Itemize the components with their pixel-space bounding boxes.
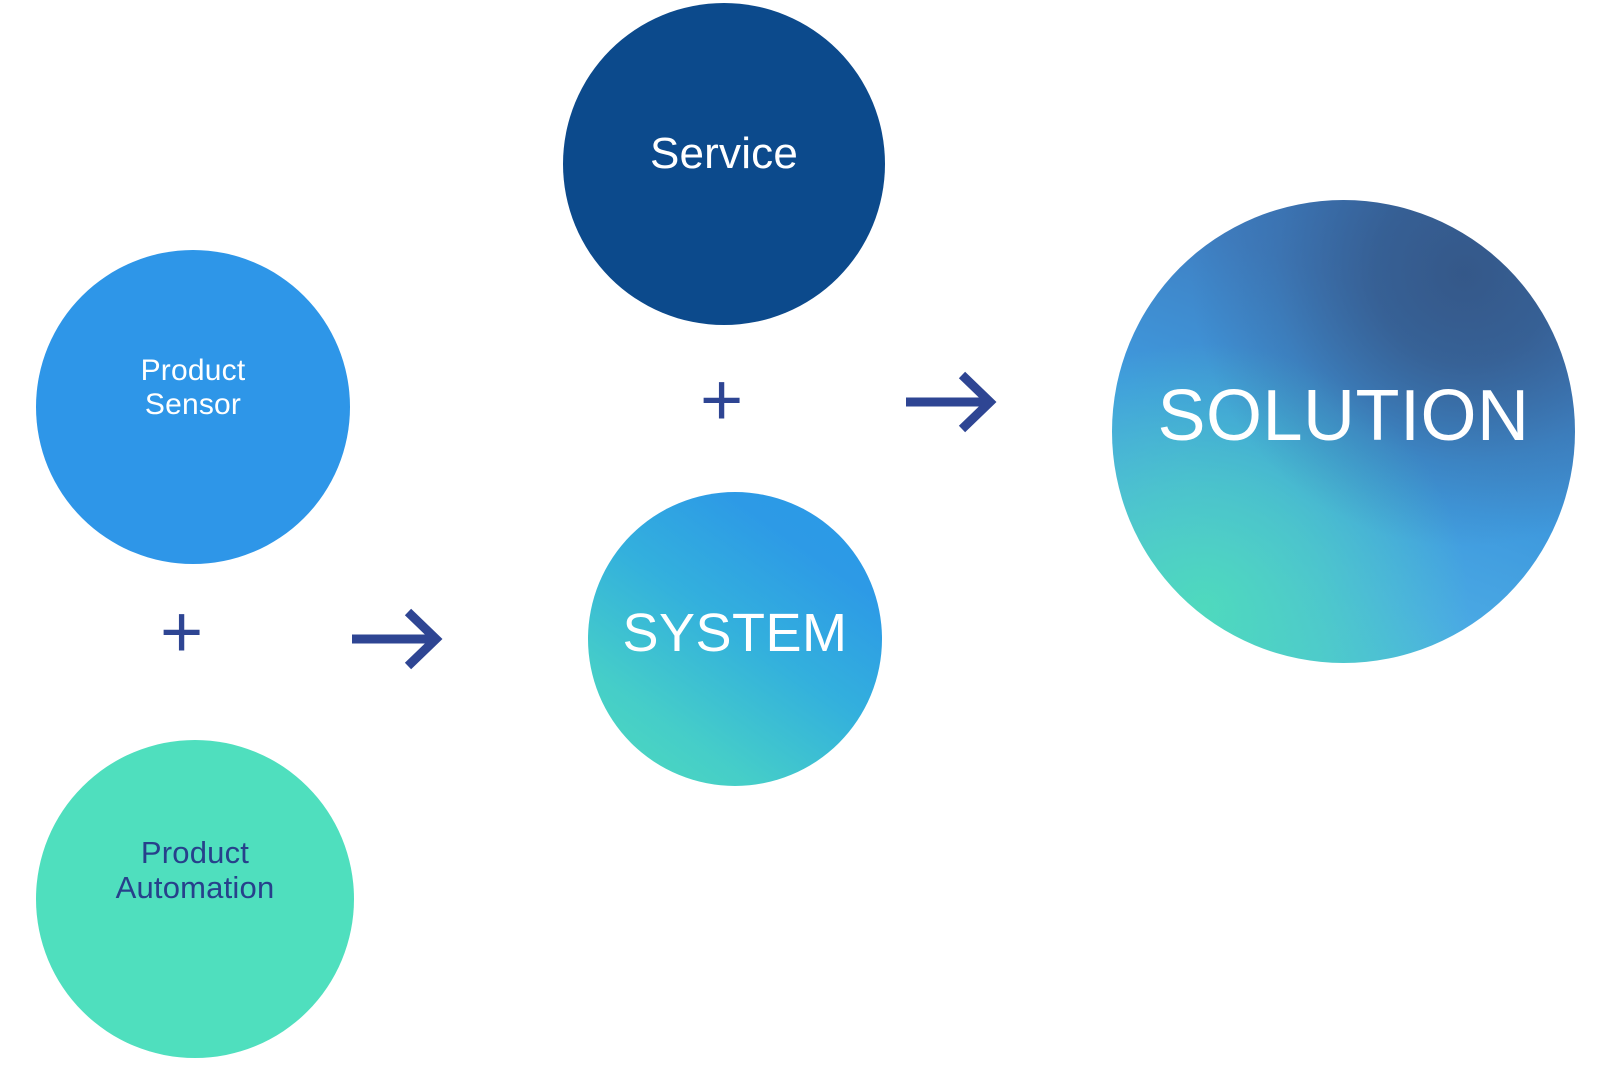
- node-product-automation-label: Product Automation: [36, 836, 354, 905]
- diagram-canvas: Product Sensor Product Automation Servic…: [0, 0, 1620, 1080]
- arrow-right-icon-to-solution: [902, 363, 1002, 441]
- plus-operator-service-system: +: [700, 363, 743, 437]
- node-solution-label: SOLUTION: [1112, 376, 1575, 457]
- node-system[interactable]: SYSTEM: [588, 492, 882, 786]
- arrow-right-icon-to-system: [348, 600, 448, 678]
- plus-operator-products: +: [160, 595, 203, 669]
- node-product-sensor[interactable]: Product Sensor: [36, 250, 350, 564]
- node-system-label: SYSTEM: [588, 603, 882, 663]
- node-solution[interactable]: SOLUTION: [1112, 200, 1575, 663]
- node-service-label: Service: [563, 129, 885, 178]
- node-product-automation[interactable]: Product Automation: [36, 740, 354, 1058]
- node-product-sensor-label: Product Sensor: [36, 354, 350, 421]
- node-service[interactable]: Service: [563, 3, 885, 325]
